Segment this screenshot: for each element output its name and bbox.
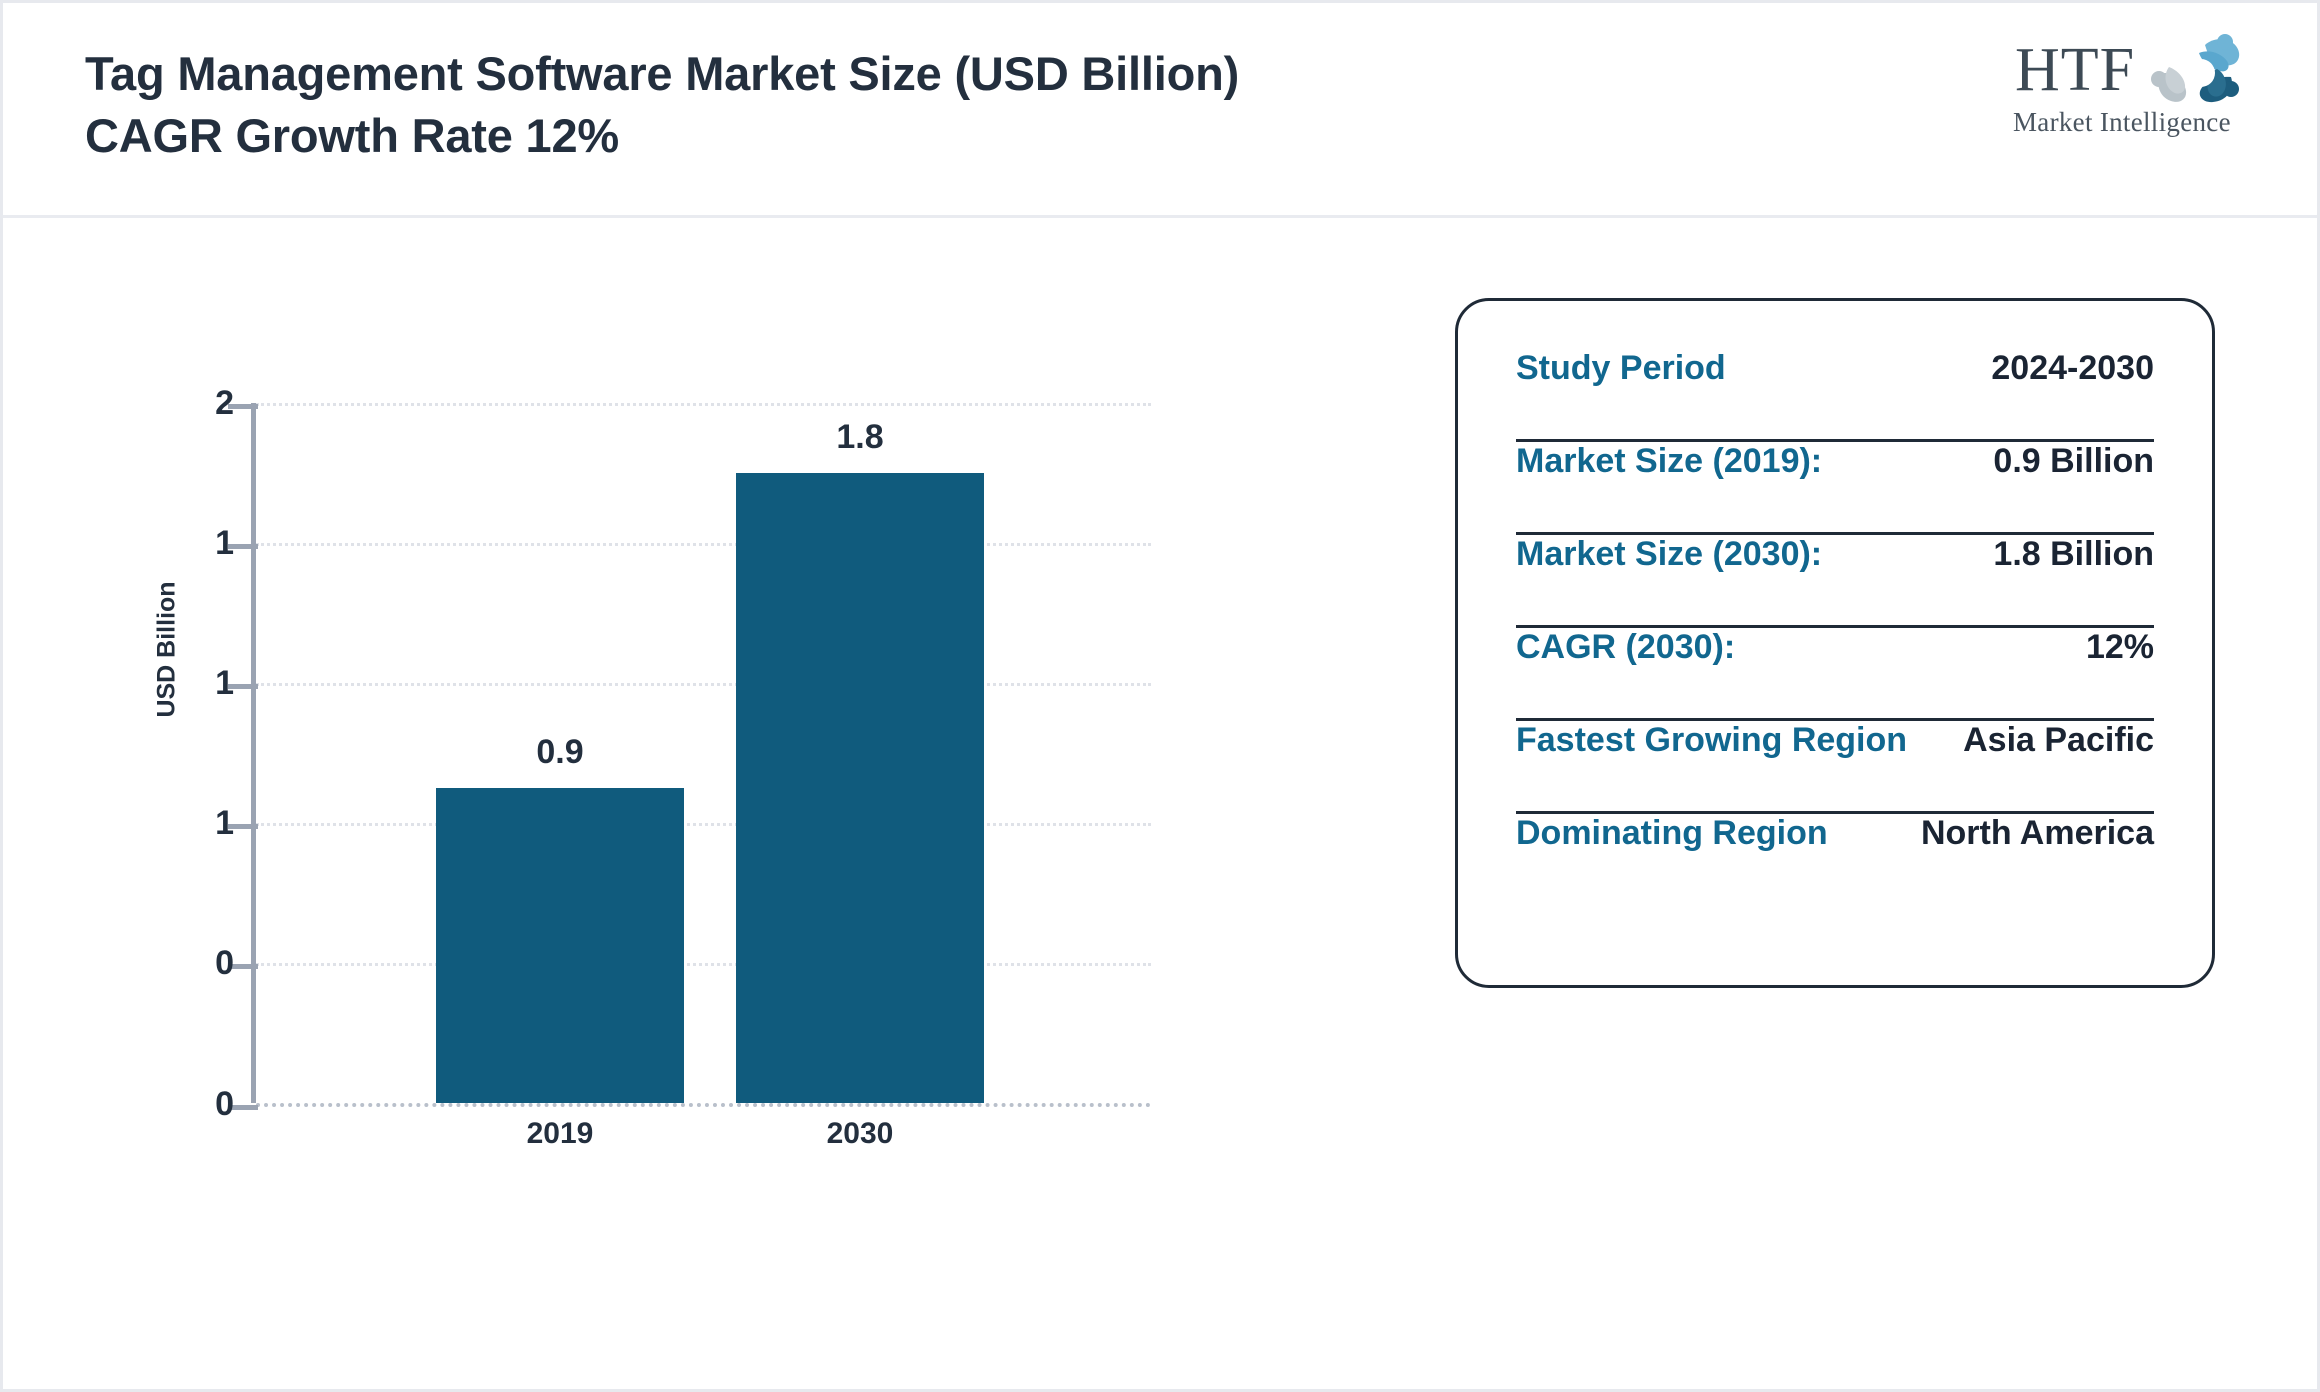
y-tick-label: 0 [215,1085,234,1124]
gridline: 2 [256,403,1151,406]
market-summary-card: Study Period 2024-2030 Market Size (2019… [1455,298,2215,988]
y-tick-label: 1 [215,664,234,703]
y-tick-label: 1 [215,524,234,563]
info-row-cagr-2030: CAGR (2030): 12% [1516,628,2154,721]
report-infographic-page: Tag Management Software Market Size (USD… [0,0,2320,1392]
plot-area: USD Billion 2 1 1 1 0 [251,403,1151,1103]
bar-chart: USD Billion 2 1 1 1 0 [3,221,1403,1391]
info-value: North America [1921,814,2154,853]
y-tick-label: 1 [215,804,234,843]
info-label: Market Size (2019): [1516,442,1822,481]
info-value: Asia Pacific [1963,721,2154,760]
info-label: Study Period [1516,349,1726,388]
bar-2030[interactable]: 1.8 [736,473,984,1103]
htf-market-intelligence-logo: HTF [2007,31,2257,146]
gridline: 1 [256,543,1151,546]
info-row-fastest-growing-region: Fastest Growing Region Asia Pacific [1516,721,2154,814]
info-value: 1.8 Billion [1993,535,2154,574]
page-header: Tag Management Software Market Size (USD… [3,3,2317,218]
info-value: 2024-2030 [1991,349,2154,388]
x-tick-label-2030: 2030 [827,1117,894,1151]
logo-tagline: Market Intelligence [2013,107,2257,138]
info-row-study-period: Study Period 2024-2030 [1516,349,2154,442]
y-axis-spine [251,403,256,1103]
gridline: 1 [256,683,1151,686]
bar-value-label: 1.8 [836,418,883,457]
info-row-dominating-region: Dominating Region North America [1516,814,2154,907]
y-tick-label: 0 [215,944,234,983]
y-tick-label: 2 [215,384,234,423]
bar-2019[interactable]: 0.9 [436,788,684,1103]
gridline: 0 [256,963,1151,966]
x-tick-label-2019: 2019 [527,1117,594,1151]
page-title: Tag Management Software Market Size (USD… [85,43,1385,167]
info-label: CAGR (2030): [1516,628,1735,667]
logo-wordmark: HTF [2015,39,2135,101]
info-label: Fastest Growing Region [1516,721,1907,760]
info-row-market-size-2030: Market Size (2030): 1.8 Billion [1516,535,2154,628]
bar-value-label: 0.9 [536,733,583,772]
info-row-market-size-2019: Market Size (2019): 0.9 Billion [1516,442,2154,535]
gridline: 1 [256,823,1151,826]
logo-mark: HTF [2007,31,2257,111]
info-value: 12% [2086,628,2154,667]
three-figures-swirl-icon [2139,29,2247,114]
info-label: Dominating Region [1516,814,1828,853]
y-axis-title: USD Billion [153,581,182,717]
gridline-baseline: 0 [256,1103,1151,1107]
info-value: 0.9 Billion [1993,442,2154,481]
info-label: Market Size (2030): [1516,535,1822,574]
